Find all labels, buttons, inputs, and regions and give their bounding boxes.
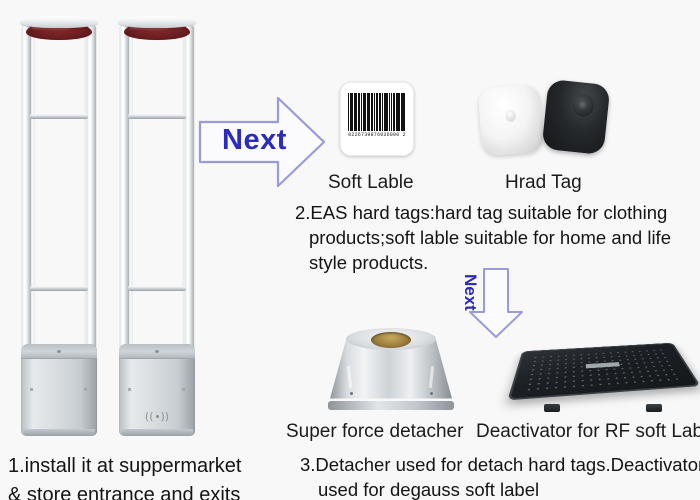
soft-label-caption: Soft Lable <box>328 172 414 194</box>
gate-top-cap <box>118 16 196 28</box>
detacher-screw <box>430 392 433 395</box>
gate-inner-edge-left <box>130 28 133 376</box>
hard-tag-pin <box>570 93 596 119</box>
gate-inner-edge-left <box>32 28 35 376</box>
gate-base-screw <box>128 388 131 391</box>
gate-post-left <box>22 26 31 378</box>
gate-base-top-cap <box>21 344 97 359</box>
detacher-screw <box>350 392 353 395</box>
detacher-hole <box>371 332 411 348</box>
gate-crossbar-lower <box>30 286 88 291</box>
deactivator-caption: Deactivator for RF soft Labe <box>476 421 700 443</box>
note-2-line-3: style products. <box>295 250 671 275</box>
gate-post-right <box>185 26 194 378</box>
deactivator-foot <box>544 404 560 412</box>
detacher-base-rim <box>328 401 454 410</box>
gate-crossbar-lower <box>128 286 186 291</box>
gate-inner-edge-right <box>83 28 86 376</box>
gate-base-screw <box>182 388 185 391</box>
gate-pedestal-right: (()) <box>118 6 196 436</box>
note-1-line-2: & store entrance and exits <box>8 484 240 500</box>
gate-base-panel: (()) <box>119 344 195 436</box>
note-3: 3.Detacher used for detach hard tags.Dea… <box>300 452 700 500</box>
gate-top-cap <box>20 16 98 28</box>
barcode-label-icon: 0226739876036000 2 <box>340 82 414 156</box>
next-arrow-down: Next <box>466 266 526 340</box>
note-2-line-1: 2.EAS hard tags:hard tag suitable for cl… <box>295 202 667 223</box>
gate-crossbar-upper <box>30 114 88 119</box>
note-1-line-1: 1.install it at suppermarket <box>8 455 241 477</box>
gate-post-left <box>120 26 129 378</box>
gate-base-foot <box>23 429 95 436</box>
gate-base-panel <box>21 344 97 436</box>
barcode-number: 0226739876036000 2 <box>346 132 408 138</box>
gate-crossbar-upper <box>128 114 186 119</box>
gate-base-screw <box>30 388 33 391</box>
deactivator-perforation-grid <box>524 348 684 391</box>
eas-antenna-gate-icon: (()) <box>18 6 198 436</box>
product-infographic: (()) Next Next 0226739876036000 2 Soft L… <box>0 0 700 500</box>
gate-post-right <box>87 26 96 378</box>
next-arrow-down-label: Next <box>460 274 480 311</box>
note-2-line-2: products;soft lable suitable for home an… <box>295 225 671 250</box>
rf-signal-icon: (()) <box>141 410 173 422</box>
hard-tag-caption: Hrad Tag <box>505 172 582 194</box>
next-arrow-right-label: Next <box>222 124 287 157</box>
note-1: 1.install it at suppermarket & store ent… <box>8 452 241 500</box>
next-arrow-right: Next <box>196 94 328 190</box>
gate-base-screw <box>84 388 87 391</box>
detacher-caption: Super force detacher <box>286 421 463 443</box>
gate-base-top-cap <box>119 344 195 359</box>
gate-base-foot <box>121 429 193 436</box>
gate-inner-edge-right <box>181 28 184 376</box>
white-hard-tag-icon <box>478 84 545 156</box>
black-hard-tag-icon <box>542 79 611 155</box>
note-3-line-1: 3.Detacher used for detach hard tags.Dea… <box>300 454 700 475</box>
barcode-bars <box>348 93 406 131</box>
note-2: 2.EAS hard tags:hard tag suitable for cl… <box>295 200 671 275</box>
deactivator-pad-icon <box>518 330 688 412</box>
cone-detacher-icon <box>330 328 452 410</box>
note-3-line-2: used for degauss soft label <box>300 477 700 500</box>
gate-pedestal-left <box>20 6 98 436</box>
deactivator-surface <box>507 343 700 401</box>
deactivator-foot <box>646 404 662 412</box>
